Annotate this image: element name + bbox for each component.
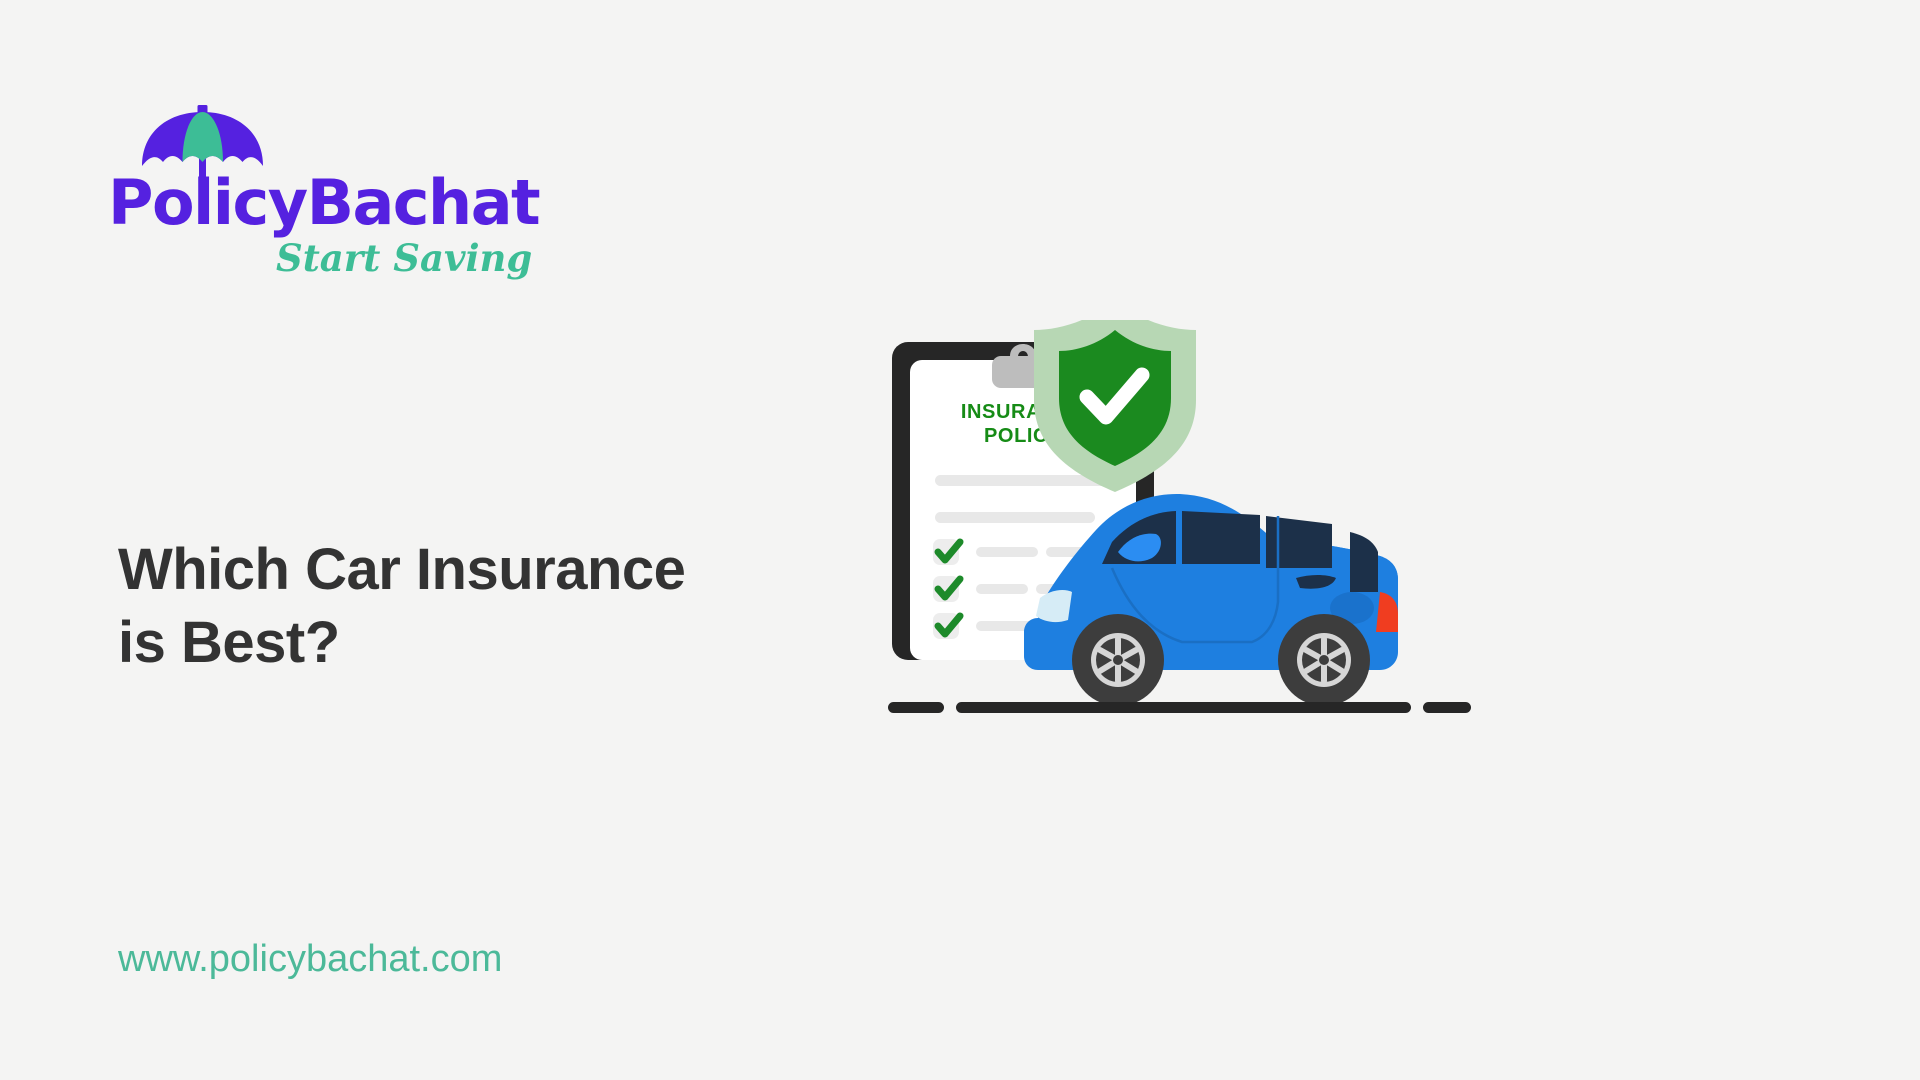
placeholder-line (976, 584, 1028, 594)
placeholder-line (976, 547, 1038, 557)
hero-illustration: INSURANCE POLICY (880, 320, 1600, 860)
ground-dash (888, 702, 944, 713)
car-window-middle (1182, 511, 1260, 564)
car-window-quarter (1350, 532, 1378, 592)
ground-line (888, 702, 1471, 713)
website-url[interactable]: www.policybachat.com (118, 938, 502, 981)
page-title: Which Car Insurance is Best? (118, 534, 818, 679)
poster-canvas: PolicyBachat Start Saving Which Car Insu… (0, 0, 1920, 1080)
placeholder-line (935, 512, 1095, 523)
brand-logo[interactable]: PolicyBachat Start Saving (108, 100, 528, 300)
car-wheel-front (1072, 614, 1164, 706)
ground-dash (1423, 702, 1471, 713)
brand-tagline: Start Saving (276, 240, 532, 277)
car-window-rear (1266, 516, 1332, 568)
page-title-line-1: Which Car Insurance (118, 534, 818, 607)
page-title-line-2: is Best? (118, 607, 818, 680)
brand-wordmark: PolicyBachat (108, 172, 539, 234)
car-wheel-rear (1278, 614, 1370, 706)
ground-dash (956, 702, 1411, 713)
